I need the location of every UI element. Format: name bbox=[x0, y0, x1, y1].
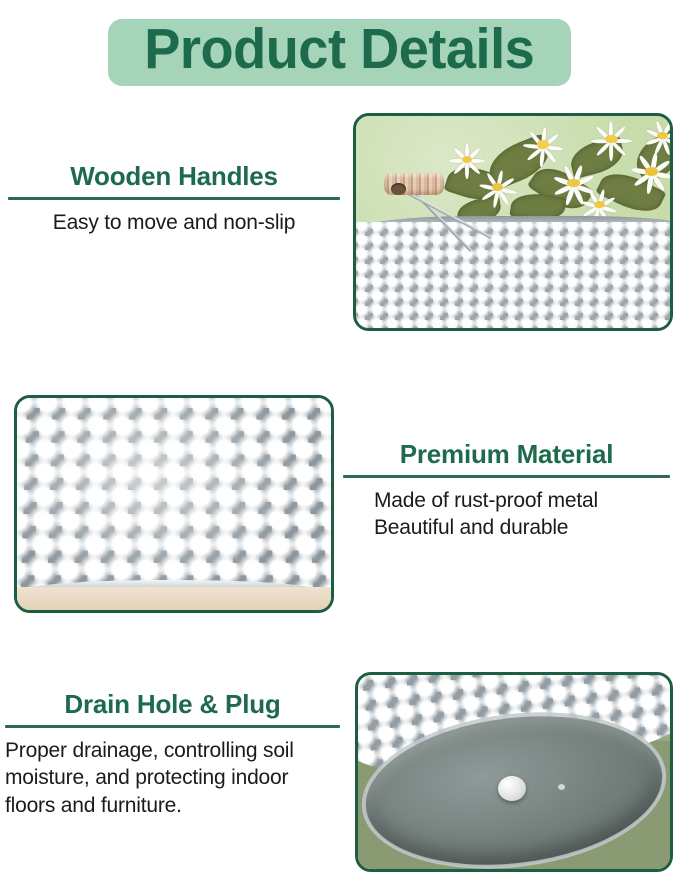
drain-plug-bottom-photo bbox=[355, 672, 673, 872]
wooden-handles-body-line-1: Easy to move and non-slip bbox=[8, 209, 340, 237]
daisy-flower bbox=[629, 156, 670, 187]
drain-hole-plug-body: Proper drainage, controlling soil moistu… bbox=[5, 737, 340, 820]
planter-with-daisies-photo bbox=[353, 113, 673, 331]
wooden-handles-text-block: Wooden Handles Easy to move and non-slip bbox=[8, 162, 340, 236]
daisy-flower bbox=[643, 123, 670, 149]
drain-hole-plug-body-line-1: Proper drainage, controlling soil bbox=[5, 737, 340, 765]
surface-sheen bbox=[17, 398, 331, 610]
premium-material-body-line-1: Made of rust-proof metal bbox=[374, 487, 670, 515]
planter-body bbox=[356, 222, 670, 328]
premium-material-text-block: Premium Material Made of rust-proof meta… bbox=[343, 440, 670, 542]
drain-hole-plug-divider bbox=[5, 725, 340, 728]
premium-material-heading: Premium Material bbox=[343, 440, 670, 469]
hammered-texture bbox=[356, 222, 670, 328]
page-header: Product Details bbox=[0, 0, 679, 104]
premium-material-divider bbox=[343, 475, 670, 478]
drain-hole-plug-body-line-3: floors and furniture. bbox=[5, 792, 340, 820]
wooden-handles-divider bbox=[8, 197, 340, 200]
base-speck bbox=[558, 784, 565, 790]
planter-with-daisies-photo-content bbox=[356, 116, 670, 328]
premium-material-body: Made of rust-proof metal Beautiful and d… bbox=[343, 487, 670, 542]
daisy-flower bbox=[589, 125, 633, 153]
wooden-handles-body: Easy to move and non-slip bbox=[8, 209, 340, 237]
wooden-table-surface bbox=[17, 587, 331, 610]
daisy-flower bbox=[447, 146, 486, 172]
page-title: Product Details bbox=[144, 21, 534, 78]
drain-plug-bottom-photo-content bbox=[358, 675, 670, 869]
drain-hole-plug-heading: Drain Hole & Plug bbox=[5, 690, 340, 719]
title-banner: Product Details bbox=[108, 19, 571, 86]
premium-material-body-line-2: Beautiful and durable bbox=[374, 514, 670, 542]
daisy-flower bbox=[521, 130, 565, 160]
hammered-metal-texture-photo-content bbox=[17, 398, 331, 610]
hammered-metal-texture-photo bbox=[14, 395, 334, 613]
drain-hole-plug-text-block: Drain Hole & Plug Proper drainage, contr… bbox=[5, 690, 340, 820]
daisy-flower bbox=[580, 191, 619, 217]
wooden-handles-heading: Wooden Handles bbox=[8, 162, 340, 191]
drain-hole-plug-body-line-2: moisture, and protecting indoor bbox=[5, 764, 340, 792]
daisy-flower bbox=[477, 172, 519, 200]
